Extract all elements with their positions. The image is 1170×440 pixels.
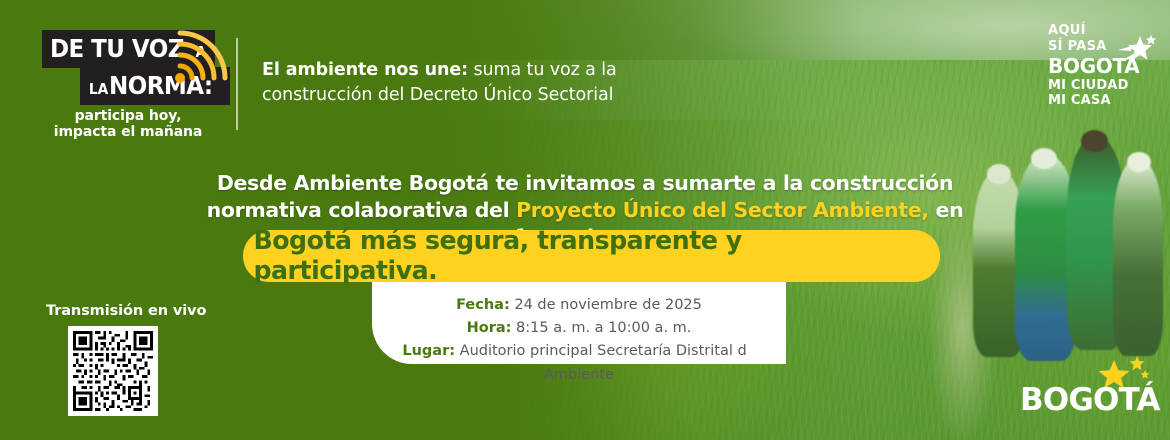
sound-wave-icon bbox=[170, 28, 232, 90]
event-detail-value: Auditorio principal Secretaría Distrital… bbox=[455, 343, 756, 382]
bogota-wordmark: BOGOTÁ bbox=[1020, 382, 1160, 418]
event-detail-row: Fecha: 24 de noviembre de 2025 bbox=[372, 294, 786, 317]
aqui-logo-line-4: MI CIUDAD bbox=[1048, 79, 1156, 92]
headline-accent: Proyecto Único del Sector Ambiente, bbox=[516, 198, 929, 222]
campaign-logo-subtitle: participa hoy, impacta el mañana bbox=[42, 109, 214, 140]
bogota-logo: BOGOTÁ bbox=[1020, 356, 1152, 418]
campaign-logo: DE TU VOZA LANORMA: participa hoy, impac… bbox=[42, 30, 222, 135]
campaign-logo-subtitle-line-2: impacta el mañana bbox=[42, 125, 214, 141]
aqui-si-pasa-logo: AQUÍ SÍ PASA BOGOTÁ MI CIUDAD MI CASA bbox=[1048, 24, 1156, 104]
promotional-banner: DE TU VOZA LANORMA: participa hoy, impac… bbox=[0, 0, 1170, 440]
event-detail-value: 24 de noviembre de 2025 bbox=[510, 297, 702, 313]
campaign-logo-subtitle-line-1: participa hoy, bbox=[42, 109, 214, 125]
aqui-logo-line-5: MI CASA bbox=[1048, 94, 1156, 107]
event-detail-label: Hora: bbox=[467, 320, 512, 336]
tagline: El ambiente nos une: suma tu voz a la co… bbox=[262, 58, 662, 107]
qr-code-icon bbox=[73, 331, 153, 411]
vertical-divider bbox=[236, 38, 238, 130]
event-detail-value: 8:15 a. m. a 10:00 a. m. bbox=[511, 320, 691, 336]
slogan-pill-text: Bogotá más segura, transparente y partic… bbox=[253, 226, 929, 286]
star-comet-icon bbox=[1116, 34, 1158, 68]
slogan-pill: Bogotá más segura, transparente y partic… bbox=[243, 230, 940, 282]
livestream-qr-code[interactable] bbox=[68, 326, 158, 416]
event-detail-label: Lugar: bbox=[402, 343, 455, 359]
campaign-logo-la: LA bbox=[89, 80, 108, 98]
campaign-logo-de-tu-voz: DE TU VOZ bbox=[50, 34, 184, 63]
event-detail-row: Hora: 8:15 a. m. a 10:00 a. m. bbox=[372, 317, 786, 340]
livestream-label: Transmisión en vivo bbox=[46, 303, 206, 319]
event-detail-row: Lugar: Auditorio principal Secretaría Di… bbox=[372, 340, 786, 386]
event-detail-label: Fecha: bbox=[456, 297, 510, 313]
tagline-bold: El ambiente nos une: bbox=[262, 60, 468, 80]
event-details-list: Fecha: 24 de noviembre de 2025 Hora: 8:1… bbox=[372, 294, 786, 387]
